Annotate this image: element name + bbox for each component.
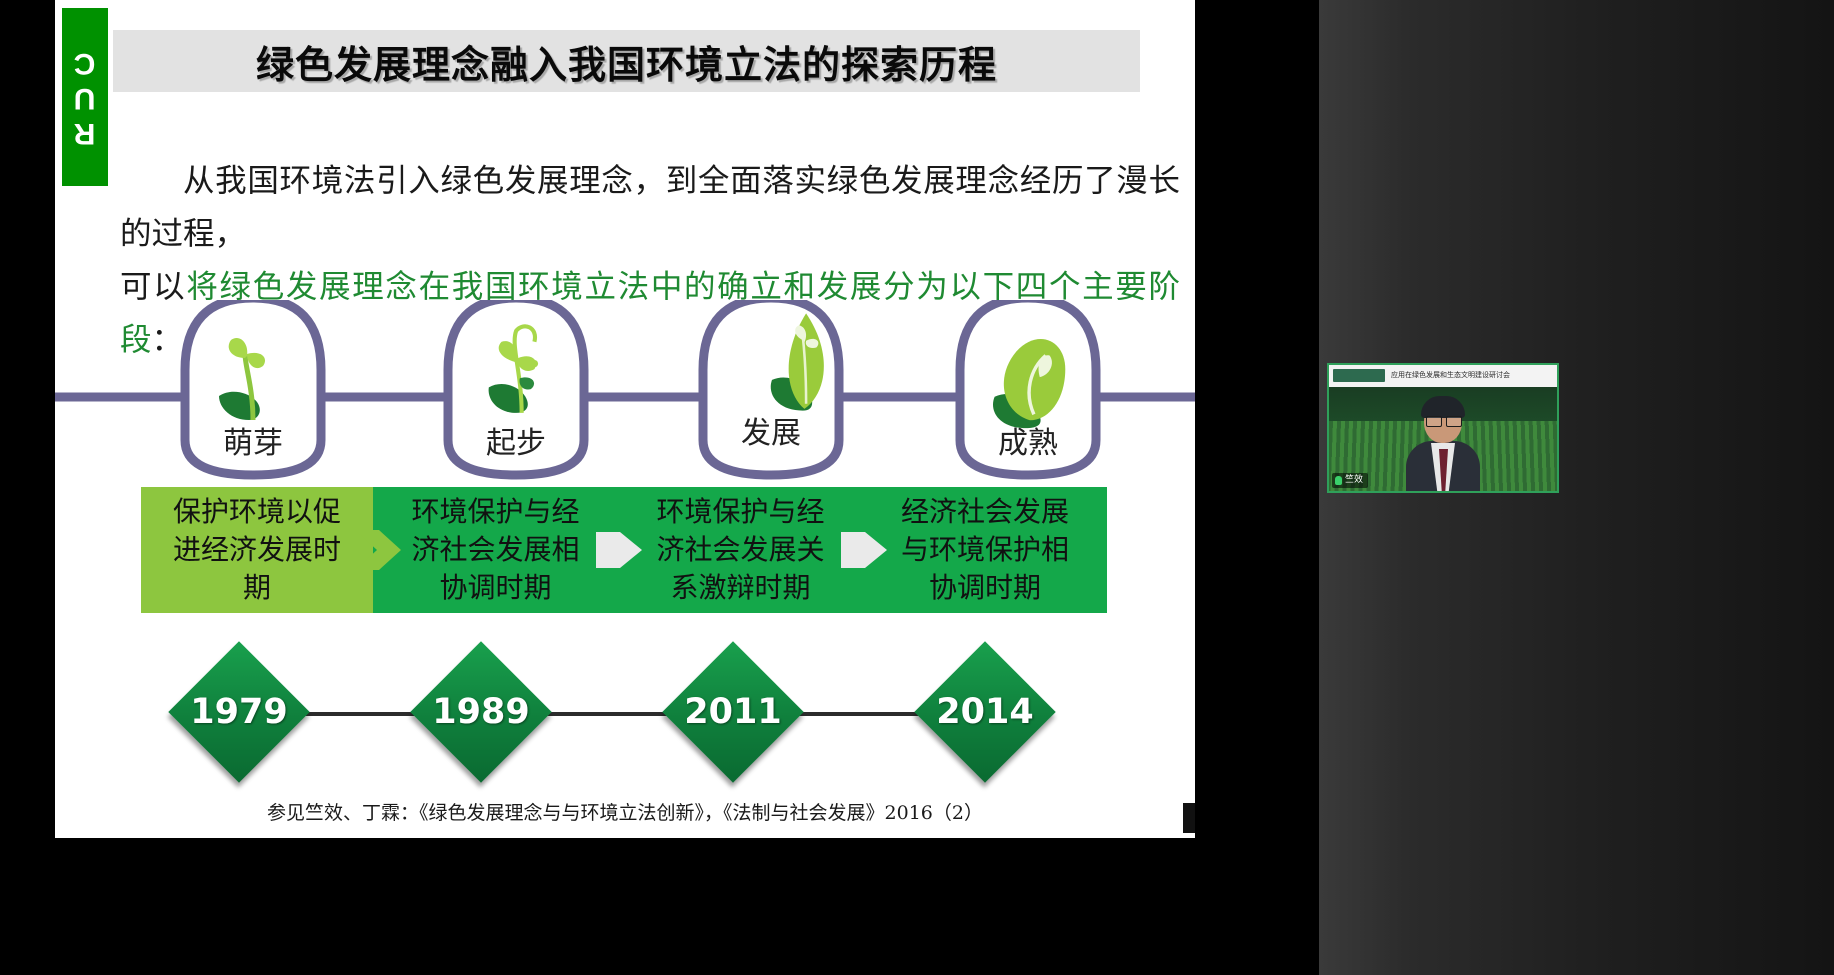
stage-label-0: 萌芽 (168, 418, 338, 462)
speaker-glasses-left (1426, 416, 1442, 427)
year-label-3: 2014 (919, 646, 1051, 778)
phase-item-1: 环境保护与经 济社会发展相 协调时期 (373, 487, 618, 613)
diamond-connector-2 (547, 712, 677, 716)
year-label-2: 2011 (667, 646, 799, 778)
speaker-figure (1400, 399, 1486, 493)
screen-root: RUC 绿色发展理念融入我国环境立法的探索历程 从我国环境法引入绿色发展理念，到… (0, 0, 1834, 975)
year-diamond-row: 1979 1989 2011 2014 (141, 638, 1107, 788)
slide-title: 绿色发展理念融入我国环境立法的探索历程 (113, 30, 1140, 92)
body-line-1: 从我国环境法引入绿色发展理念，到全面落实绿色发展理念经历了漫长的过程， (120, 163, 1180, 252)
ruc-logo-bar: RUC (62, 8, 108, 186)
year-label-0: 1979 (173, 646, 305, 778)
year-label-1: 1989 (415, 646, 547, 778)
phase-3-line-3: 协调时期 (901, 569, 1069, 607)
sprout-icon (205, 328, 301, 432)
slide-right-margin (1195, 0, 1267, 975)
phase-3-line-1: 经济社会发展 (901, 493, 1069, 531)
diamond-connector-1 (305, 712, 425, 716)
video-banner-header: 应用在绿色发展和生态文明建设研讨会 (1329, 365, 1557, 387)
phase-0-line-2: 进经济发展时 (173, 531, 341, 569)
banner-logo-icon (1333, 369, 1385, 382)
phase-0-line-3: 期 (173, 569, 341, 607)
diamond-connector-3 (799, 712, 929, 716)
leaf-growth-icon (753, 310, 849, 414)
phase-1-line-3: 协调时期 (411, 569, 579, 607)
year-diamond-0: 1979 (173, 646, 305, 778)
stage-label-2: 发展 (686, 408, 856, 452)
phase-2-line-2: 济社会发展关 (656, 531, 824, 569)
year-diamond-1: 1989 (415, 646, 547, 778)
phase-item-0: 保护环境以促 进经济发展时 期 (141, 487, 373, 613)
phase-item-2: 环境保护与经 济社会发展关 系激辩时期 (618, 487, 863, 613)
banner-title: 应用在绿色发展和生态文明建设研讨会 (1391, 369, 1554, 382)
phase-0-line-1: 保护环境以促 (173, 493, 341, 531)
phase-item-3: 经济社会发展 与环境保护相 协调时期 (863, 487, 1107, 613)
phase-1-line-2: 济社会发展相 (411, 531, 579, 569)
participant-name: 竺效 (1345, 473, 1363, 488)
page-number-badge: 11 (1183, 803, 1195, 833)
year-diamond-2: 2011 (667, 646, 799, 778)
phase-1-line-1: 环境保护与经 (411, 493, 579, 531)
stage-label-1: 起步 (431, 418, 601, 462)
presentation-slide: RUC 绿色发展理念融入我国环境立法的探索历程 从我国环境法引入绿色发展理念，到… (55, 0, 1195, 838)
footer-citation: 参见竺效、丁霖：《绿色发展理念与与环境立法创新》，《法制与社会发展》2016（2… (55, 798, 1195, 825)
stage-label-3: 成熟 (943, 418, 1113, 462)
phase-bar: 保护环境以促 进经济发展时 期 环境保护与经 济社会发展相 协调时期 环境保护与… (141, 487, 1107, 613)
seedling-icon (470, 318, 566, 422)
speaker-glasses-right (1446, 416, 1462, 427)
left-black-margin (0, 0, 55, 975)
microphone-icon (1335, 476, 1342, 485)
participant-name-badge: 竺效 (1332, 473, 1368, 488)
phase-2-line-3: 系激辩时期 (656, 569, 824, 607)
year-diamond-3: 2014 (919, 646, 1051, 778)
speaker-hair (1421, 396, 1465, 418)
phase-2-line-1: 环境保护与经 (656, 493, 824, 531)
ruc-logo-text: RUC (68, 45, 102, 150)
phase-3-line-2: 与环境保护相 (901, 531, 1069, 569)
video-participant-tile[interactable]: 应用在绿色发展和生态文明建设研讨会 竺效 (1327, 363, 1559, 493)
bottom-black-margin (0, 838, 1267, 975)
